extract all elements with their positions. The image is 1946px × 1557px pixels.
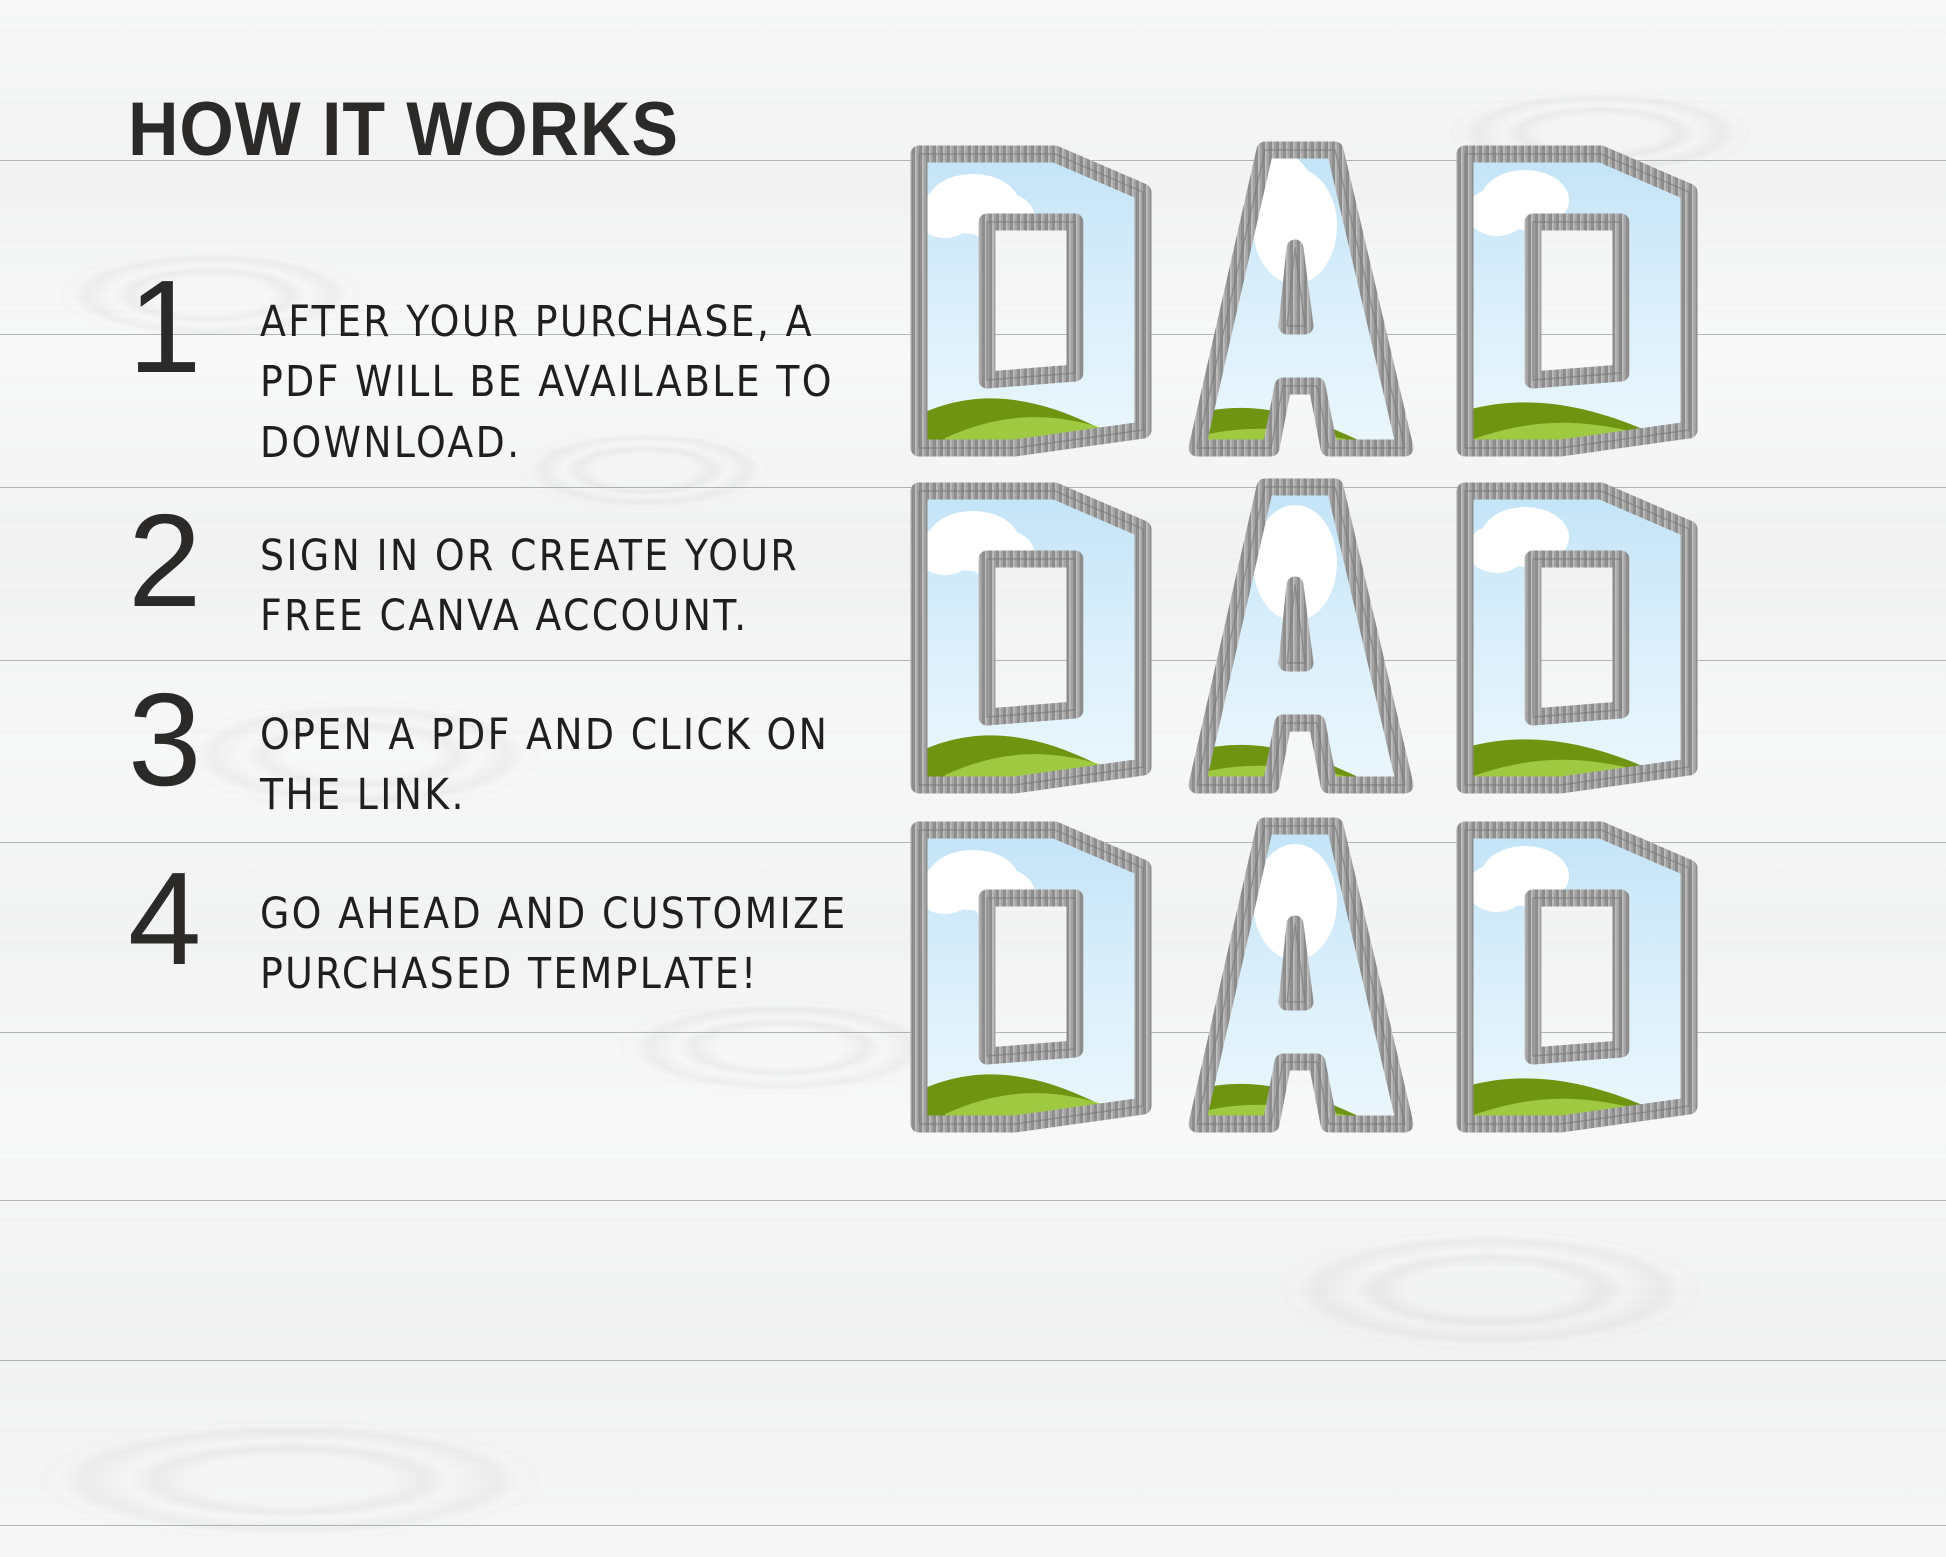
letter-d-first — [905, 130, 1946, 475]
step-number: 2 — [128, 506, 260, 617]
wood-knot — [620, 1000, 940, 1095]
step-number: 4 — [128, 864, 260, 975]
step-text: After your purchase, a PDF will be avail… — [260, 286, 898, 474]
dad-artwork-column — [905, 130, 1946, 1170]
page-title: HOW IT WORKS — [128, 92, 855, 168]
step-item: 4 Go ahead and customize purchased templ… — [128, 878, 918, 995]
plank-seam — [0, 1200, 1946, 1202]
step-text: Sign in or create your free Canva accoun… — [260, 520, 898, 647]
step-number: 1 — [128, 272, 260, 383]
step-text: Open a PDF and click on the link. — [260, 699, 898, 826]
wood-knot — [1280, 1230, 1700, 1350]
steps-list: 1 After your purchase, a PDF will be ava… — [128, 286, 918, 994]
step-item: 1 After your purchase, a PDF will be ava… — [128, 286, 918, 458]
wood-knot — [40, 1420, 540, 1540]
step-text: Go ahead and customize purchased templat… — [260, 878, 898, 1005]
dad-word-row — [905, 467, 1946, 812]
plank-seam — [0, 1525, 1946, 1527]
step-number: 3 — [128, 685, 260, 796]
step-item: 2 Sign in or create your free Canva acco… — [128, 520, 918, 637]
letter-d-first — [905, 467, 1946, 812]
instructions-column: HOW IT WORKS 1 After your purchase, a PD… — [128, 92, 918, 994]
poster-canvas: HOW IT WORKS 1 After your purchase, a PD… — [0, 0, 1946, 1557]
dad-word-row — [905, 806, 1946, 1151]
plank-seam — [0, 1360, 1946, 1362]
letter-d-first — [905, 806, 1946, 1151]
step-item: 3 Open a PDF and click on the link. — [128, 699, 918, 816]
dad-word-row — [905, 130, 1946, 475]
